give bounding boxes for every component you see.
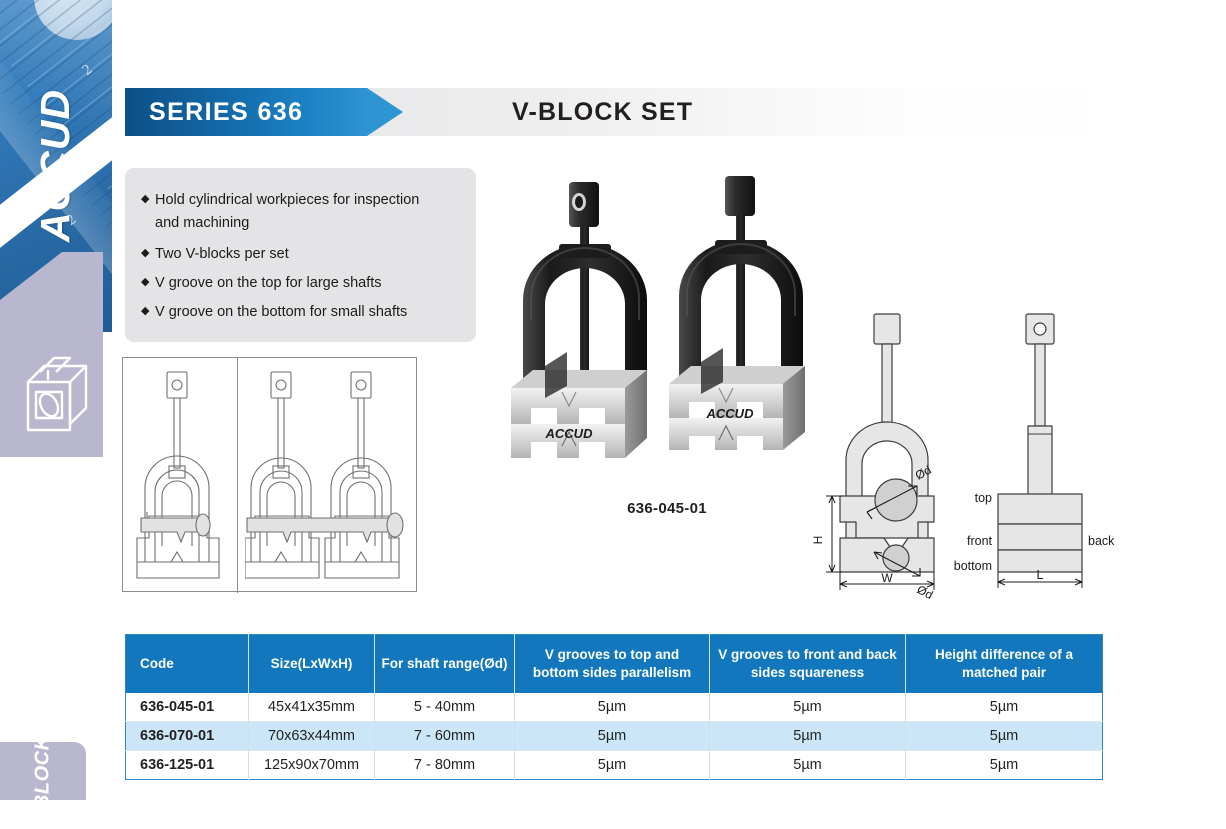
table-row: 636-045-01 45x41x35mm 5 - 40mm 5µm 5µm 5… <box>126 693 1103 722</box>
feature-text: V groove on the bottom for small shafts <box>155 302 460 323</box>
table-header-squareness: V grooves to front and back sides square… <box>710 635 906 693</box>
cell-parallelism: 5µm <box>515 751 710 780</box>
cell-size: 125x90x70mm <box>249 751 375 780</box>
application-double-block-drawing <box>245 366 413 584</box>
application-drawings-box <box>122 357 417 592</box>
application-single-block-drawing <box>131 366 231 584</box>
brand-mark-right: ACCUD <box>706 406 755 421</box>
side-view-drawing: top front back bottom L <box>950 300 1130 600</box>
table-header-code: Code <box>126 635 249 693</box>
side-length-dimension-label: L <box>1037 568 1044 582</box>
v-block-icon <box>18 352 92 438</box>
specification-table: Code Size(LxWxH) For shaft range(Ød) V g… <box>125 634 1103 780</box>
features-panel: ◆ Hold cylindrical workpieces for inspec… <box>125 168 476 342</box>
cell-squareness: 5µm <box>710 693 906 722</box>
cell-size: 45x41x35mm <box>249 693 375 722</box>
v-block-left: ACCUD <box>511 182 647 458</box>
bullet-diamond-icon: ◆ <box>141 273 155 293</box>
cell-parallelism: 5µm <box>515 722 710 751</box>
cell-height-difference: 5µm <box>906 722 1103 751</box>
product-photo-caption: 636-045-01 <box>487 500 847 517</box>
cell-shaft-range: 7 - 80mm <box>375 751 515 780</box>
cell-parallelism: 5µm <box>515 693 710 722</box>
cell-size: 70x63x44mm <box>249 722 375 751</box>
table-header-shaft-range: For shaft range(Ød) <box>375 635 515 693</box>
page-header: SERIES 636 V-BLOCK SET <box>125 88 1125 136</box>
cell-code: 636-045-01 <box>126 693 249 722</box>
brand-mark-left: ACCUD <box>545 426 594 441</box>
side-back-label: back <box>1088 534 1115 548</box>
front-height-dimension-label: H <box>812 536 825 545</box>
side-bottom-label: bottom <box>954 559 992 573</box>
feature-item: ◆ Hold cylindrical workpieces for inspec… <box>141 190 460 211</box>
front-width-dimension-label: W <box>881 571 893 585</box>
sidebar: 2 2 1 ACCUD V-BLOCKS <box>0 0 112 800</box>
cell-height-difference: 5µm <box>906 751 1103 780</box>
front-view-drawing: Ød Ød H W <box>812 300 962 600</box>
table-header-size: Size(LxWxH) <box>249 635 375 693</box>
cell-code: 636-070-01 <box>126 722 249 751</box>
table-row: 636-125-01 125x90x70mm 7 - 80mm 5µm 5µm … <box>126 751 1103 780</box>
page-title: V-BLOCK SET <box>387 88 693 136</box>
series-label: SERIES 636 <box>149 98 303 127</box>
side-top-label: top <box>975 491 992 505</box>
sidebar-section-tab[interactable]: V-BLOCKS <box>0 742 86 800</box>
cell-squareness: 5µm <box>710 722 906 751</box>
cell-shaft-range: 5 - 40mm <box>375 693 515 722</box>
application-drawings-divider <box>237 358 238 593</box>
table-header-parallelism: V grooves to top and bottom sides parall… <box>515 635 710 693</box>
table-header-row: Code Size(LxWxH) For shaft range(Ød) V g… <box>126 635 1103 693</box>
feature-item: ◆ V groove on the bottom for small shaft… <box>141 302 460 323</box>
bullet-diamond-icon: ◆ <box>141 302 155 322</box>
feature-text: Hold cylindrical workpieces for inspecti… <box>155 190 460 211</box>
cell-code: 636-125-01 <box>126 751 249 780</box>
feature-item-continuation: and machining <box>155 213 460 234</box>
bullet-diamond-icon: ◆ <box>141 244 155 264</box>
feature-text: Two V-blocks per set <box>155 244 460 265</box>
cell-shaft-range: 7 - 60mm <box>375 722 515 751</box>
feature-text: V groove on the top for large shafts <box>155 273 460 294</box>
feature-item: ◆ Two V-blocks per set <box>141 244 460 265</box>
feature-item: ◆ V groove on the top for large shafts <box>141 273 460 294</box>
product-photo: ACCUD ACCUD <box>487 170 847 480</box>
table-row: 636-070-01 70x63x44mm 7 - 60mm 5µm 5µm 5… <box>126 722 1103 751</box>
bullet-diamond-icon: ◆ <box>141 190 155 210</box>
feature-text: and machining <box>155 213 460 234</box>
v-block-right: ACCUD <box>669 176 805 450</box>
table-header-height-difference: Height difference of a matched pair <box>906 635 1103 693</box>
cell-squareness: 5µm <box>710 751 906 780</box>
sidebar-section-tab-label: V-BLOCKS <box>32 722 55 829</box>
cell-height-difference: 5µm <box>906 693 1103 722</box>
series-badge: SERIES 636 <box>125 88 367 136</box>
side-front-label: front <box>967 534 993 548</box>
